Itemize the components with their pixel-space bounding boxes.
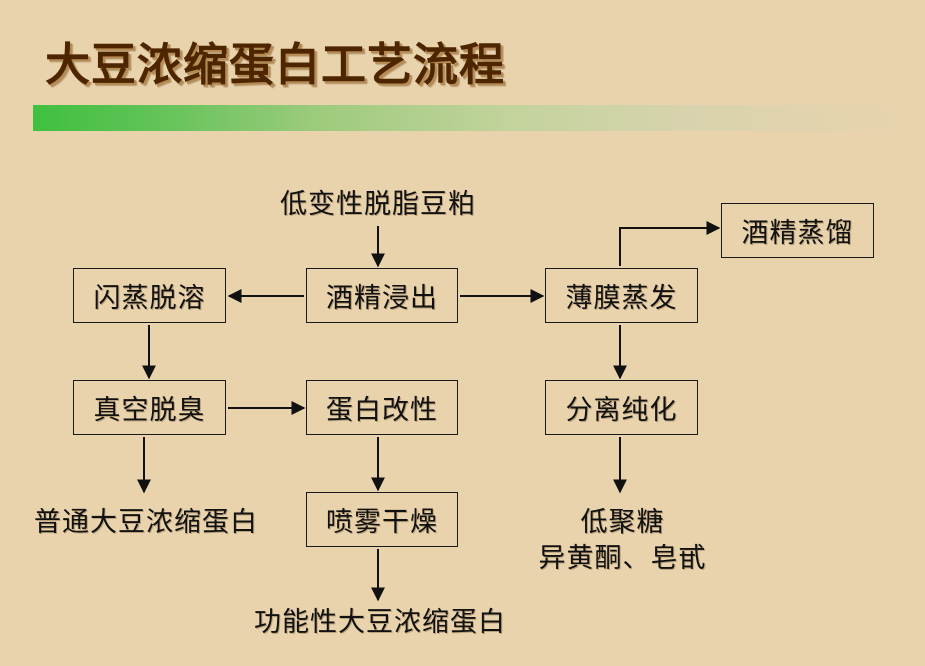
slide-canvas: 大豆浓缩蛋白工艺流程 bbox=[0, 0, 925, 666]
node-protein-modification[interactable]: 蛋白改性 bbox=[306, 380, 458, 435]
node-flash-desolventizing[interactable]: 闪蒸脱溶 bbox=[73, 268, 226, 323]
edge-thinfilmevaporation-to-alcoholdistillation bbox=[620, 228, 719, 266]
node-spray-drying[interactable]: 喷雾干燥 bbox=[306, 492, 458, 547]
node-functional-product: 功能性大豆浓缩蛋白 bbox=[230, 600, 530, 639]
node-vacuum-deodorization[interactable]: 真空脱臭 bbox=[73, 380, 226, 435]
node-raw-material: 低变性脱脂豆粕 bbox=[258, 182, 498, 221]
node-ordinary-product: 普通大豆浓缩蛋白 bbox=[10, 500, 282, 539]
flowchart-connectors bbox=[0, 0, 925, 666]
node-alcohol-extraction[interactable]: 酒精浸出 bbox=[306, 268, 458, 323]
node-thin-film-evaporation[interactable]: 薄膜蒸发 bbox=[545, 268, 698, 323]
node-byproduct-isoflavone-saponin: 异黄酮、皂甙 bbox=[500, 536, 745, 575]
node-alcohol-distillation[interactable]: 酒精蒸馏 bbox=[721, 203, 874, 258]
node-separation-purification[interactable]: 分离纯化 bbox=[545, 380, 698, 435]
node-byproduct-oligosaccharide: 低聚糖 bbox=[500, 500, 745, 539]
